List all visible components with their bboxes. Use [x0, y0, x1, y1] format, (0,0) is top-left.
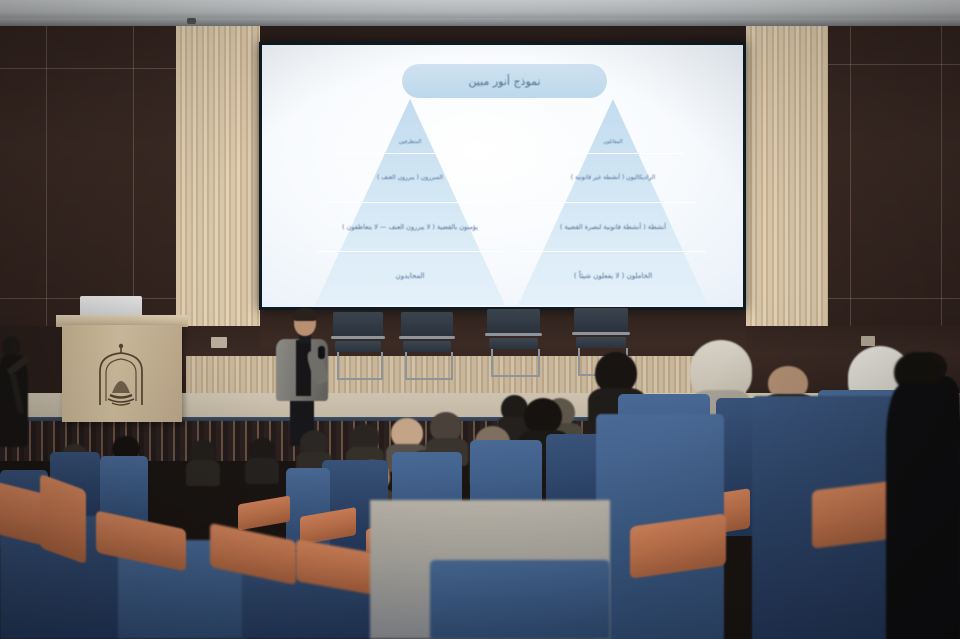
presenter — [272, 310, 332, 445]
audience-member-foreground — [886, 352, 960, 639]
right-pyramid-level-0-label: المقاتلون — [578, 133, 648, 151]
right-pyramid: المقاتلون الراديكاليون ( أنشطة غير قانون… — [518, 99, 708, 305]
wall-panel-dark-right — [828, 26, 960, 326]
wall-panel-dark-left — [0, 26, 176, 326]
seat-armrest — [238, 495, 290, 530]
left-pyramid-level-0-label: المتطرفون — [370, 133, 450, 151]
slide-title-text: نموذج أنور مبين — [468, 75, 540, 88]
stage-chair-2 — [401, 312, 453, 382]
projection-screen: نموذج أنور مبين المتطرفون المبررون ( يبر… — [262, 45, 743, 307]
left-pyramid-level-2-label: يؤمنون بالقضية ( لا يبررون العنف — لا يت… — [331, 206, 489, 248]
ceiling-sensor-icon — [187, 18, 196, 24]
wall-slats-behind-stage — [186, 356, 746, 396]
projection-screen-frame: نموذج أنور مبين المتطرفون المبررون ( يبر… — [259, 42, 746, 310]
slide-title-pill: نموذج أنور مبين — [402, 64, 607, 98]
ceiling-rail — [0, 18, 960, 26]
stage-chair-1 — [333, 312, 383, 382]
left-pyramid: المتطرفون المبررون ( يبررون العنف ) يؤمن… — [315, 99, 505, 305]
foreground-seat-center[interactable] — [430, 560, 610, 639]
microphone-icon — [318, 346, 325, 359]
stage-chair-3 — [487, 309, 540, 381]
right-pyramid-level-1-label: الراديكاليون ( أنشطة غير قانونية ) — [554, 157, 672, 199]
right-pyramid-level-3-label: الخاملون ( لا يفعلون شيئاً ) — [540, 265, 686, 287]
wall-outlet-icon-right — [861, 336, 875, 346]
wall-outlet-icon — [211, 337, 227, 348]
wall-slats-left — [176, 26, 260, 356]
audience-member — [186, 440, 220, 480]
wall-slats-right — [746, 26, 828, 356]
photo-scene: نموذج أنور مبين المتطرفون المبررون ( يبر… — [0, 0, 960, 639]
left-pyramid-level-3-label: المحايدون — [345, 265, 475, 287]
wooden-podium — [62, 325, 182, 422]
left-pyramid-level-1-label: المبررون ( يبررون العنف ) — [349, 157, 471, 199]
person-far-left — [0, 336, 32, 446]
institution-emblem-icon — [90, 343, 152, 409]
audience-member — [245, 438, 279, 478]
right-pyramid-level-2-label: أنشطة ( أنشطة قانونية لنصرة القضية ) — [540, 206, 686, 248]
